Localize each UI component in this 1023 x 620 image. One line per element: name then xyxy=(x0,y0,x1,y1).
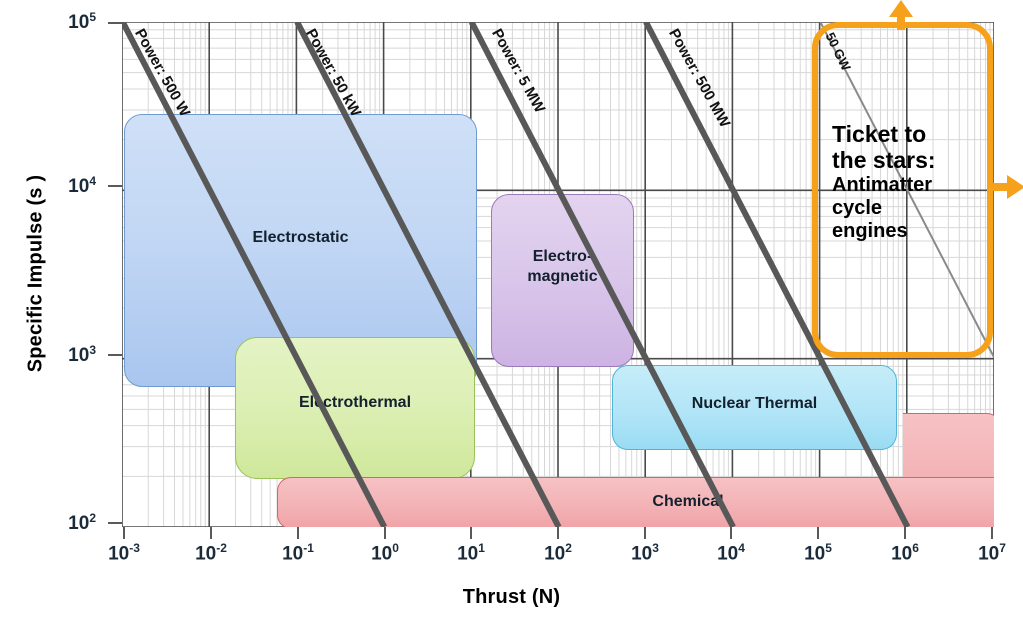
x-tickmark xyxy=(384,527,386,539)
y-tickmark xyxy=(108,522,122,524)
x-tick-1e2: 102 xyxy=(544,541,572,565)
y-tickmark xyxy=(108,22,122,24)
y-tick-1e3: 103 xyxy=(20,343,96,367)
x-tickmark xyxy=(123,527,125,539)
x-tick-1e4: 104 xyxy=(717,541,745,565)
x-tick-1e-3: 10-3 xyxy=(108,541,140,565)
highlight-callout-text: Ticket to the stars: Antimatter cycle en… xyxy=(832,122,982,243)
x-tick-1e3: 103 xyxy=(631,541,659,565)
x-tickmark xyxy=(991,527,993,539)
y-tick-1e4: 104 xyxy=(20,174,96,198)
callout-body-line1: Antimatter xyxy=(832,174,982,197)
x-axis-title: Thrust (N) xyxy=(0,586,1023,609)
x-tickmark xyxy=(297,527,299,539)
callout-body-line3: engines xyxy=(832,220,982,243)
callout-arrow-up xyxy=(884,0,918,30)
chart-root: Specific Impulse (s ) Thrust (N) 105 104… xyxy=(0,0,1023,620)
callout-title-line2: the stars: xyxy=(832,148,982,174)
x-tickmark xyxy=(730,527,732,539)
callout-body-line2: cycle xyxy=(832,197,982,220)
x-tickmark xyxy=(470,527,472,539)
x-tickmark xyxy=(210,527,212,539)
x-tick-1e1: 101 xyxy=(457,541,485,565)
x-tick-1e5: 105 xyxy=(804,541,832,565)
x-tick-1e7: 107 xyxy=(978,541,1006,565)
x-tickmark xyxy=(557,527,559,539)
x-tickmark xyxy=(817,527,819,539)
y-tickmark xyxy=(108,354,122,356)
x-tick-1e-2: 10-2 xyxy=(195,541,227,565)
y-tick-1e5: 105 xyxy=(20,10,96,34)
x-tick-1e6: 106 xyxy=(891,541,919,565)
x-tickmark xyxy=(904,527,906,539)
callout-arrow-right xyxy=(993,170,1023,204)
y-tickmark xyxy=(108,185,122,187)
x-tick-1e-1: 10-1 xyxy=(282,541,314,565)
x-tickmark xyxy=(644,527,646,539)
x-tick-1e0: 100 xyxy=(371,541,399,565)
callout-title-line1: Ticket to xyxy=(832,122,982,148)
y-tick-1e2: 102 xyxy=(20,511,96,535)
